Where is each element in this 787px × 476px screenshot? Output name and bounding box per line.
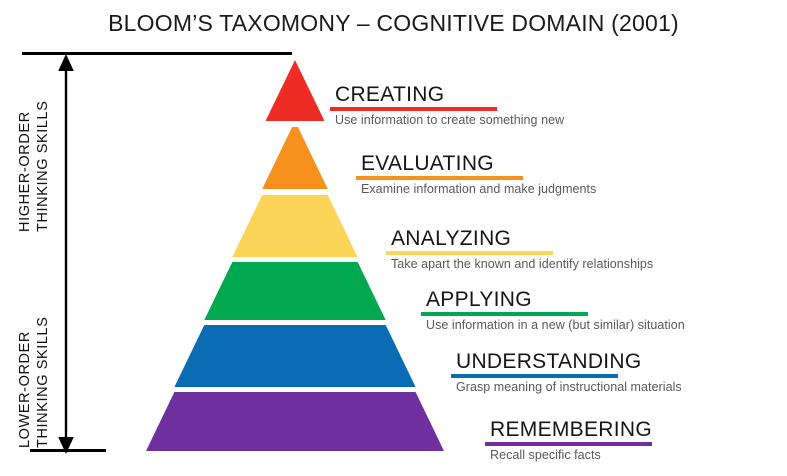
- level-desc-applying: Use information in a new (but similar) s…: [426, 318, 685, 332]
- level-underline-applying: [421, 312, 588, 316]
- pyramid-band-analyzing: [232, 195, 357, 257]
- level-desc-remembering: Recall specific facts: [490, 448, 652, 462]
- pyramid-band-evaluating: [262, 127, 328, 189]
- level-title-applying: APPLYING: [426, 289, 685, 311]
- level-title-understanding: UNDERSTANDING: [456, 351, 682, 373]
- level-underline-creating: [330, 107, 497, 111]
- level-title-analyzing: ANALYZING: [391, 228, 653, 250]
- level-desc-analyzing: Take apart the known and identify relati…: [391, 257, 653, 271]
- level-callout-analyzing: ANALYZING Take apart the known and ident…: [391, 228, 653, 271]
- level-desc-understanding: Grasp meaning of instructional materials: [456, 380, 682, 394]
- level-underline-evaluating: [356, 176, 523, 180]
- pyramid-band-applying: [204, 262, 385, 320]
- level-title-creating: CREATING: [335, 84, 564, 106]
- pyramid-band-understanding: [174, 325, 415, 387]
- level-desc-evaluating: Examine information and make judgments: [361, 182, 596, 196]
- blooms-taxonomy-diagram: BLOOM’S TAXOMONY – COGNITIVE DOMAIN (200…: [0, 0, 787, 476]
- level-title-evaluating: EVALUATING: [361, 153, 596, 175]
- level-desc-creating: Use information to create something new: [335, 113, 564, 127]
- level-underline-understanding: [451, 374, 618, 378]
- level-callout-creating: CREATING Use information to create somet…: [335, 84, 564, 127]
- level-underline-remembering: [485, 442, 652, 446]
- level-title-remembering: REMEMBERING: [490, 419, 652, 441]
- level-callout-applying: APPLYING Use information in a new (but s…: [426, 289, 685, 332]
- level-callout-remembering: REMEMBERING Recall specific facts: [490, 419, 652, 462]
- level-underline-analyzing: [386, 251, 553, 255]
- level-callout-understanding: UNDERSTANDING Grasp meaning of instructi…: [456, 351, 682, 394]
- pyramid-band-creating: [266, 60, 325, 121]
- pyramid-band-remembering: [146, 392, 444, 451]
- level-callout-evaluating: EVALUATING Examine information and make …: [361, 153, 596, 196]
